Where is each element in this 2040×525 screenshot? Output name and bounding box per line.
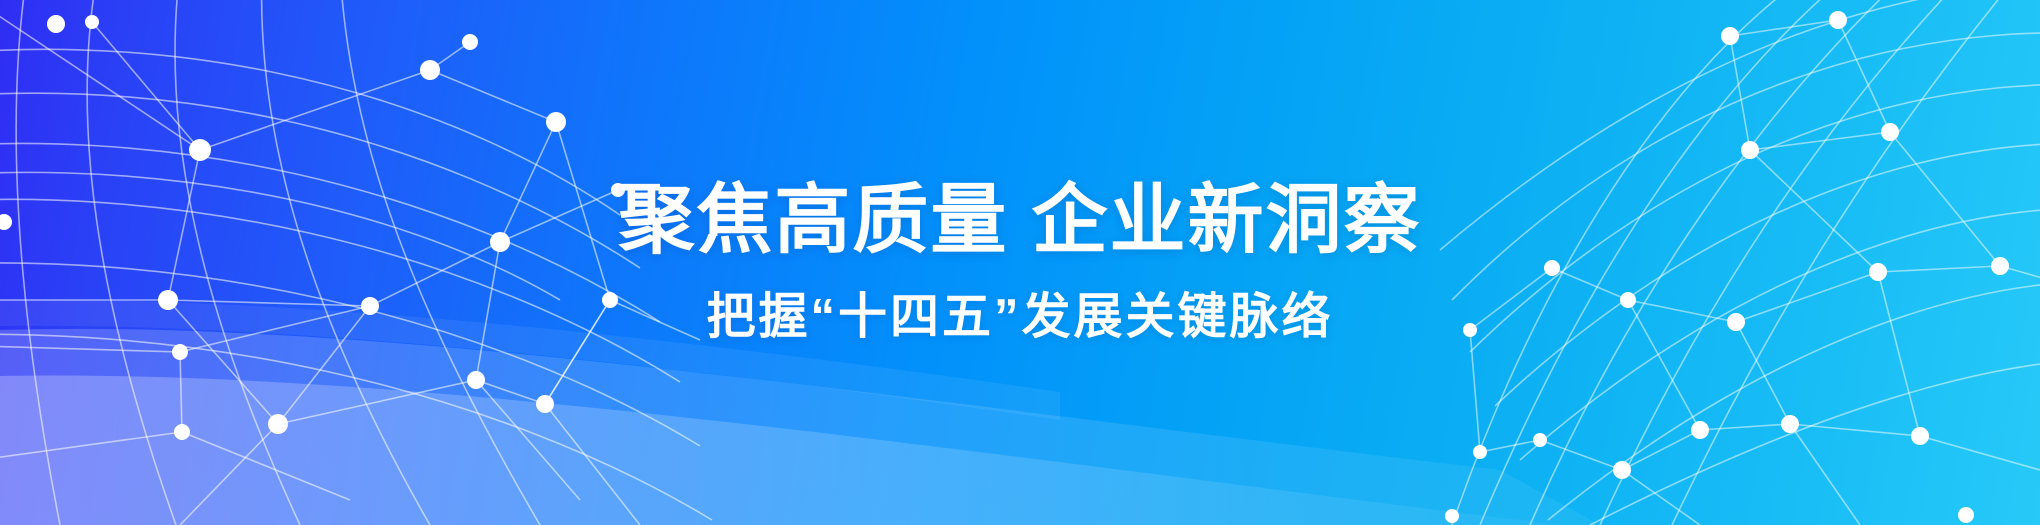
network-node-group xyxy=(1445,11,2009,523)
right-network-globe xyxy=(0,0,2040,525)
promo-banner: 聚焦高质量 企业新洞察 把握“十四五”发展关键脉络 xyxy=(0,0,2040,525)
